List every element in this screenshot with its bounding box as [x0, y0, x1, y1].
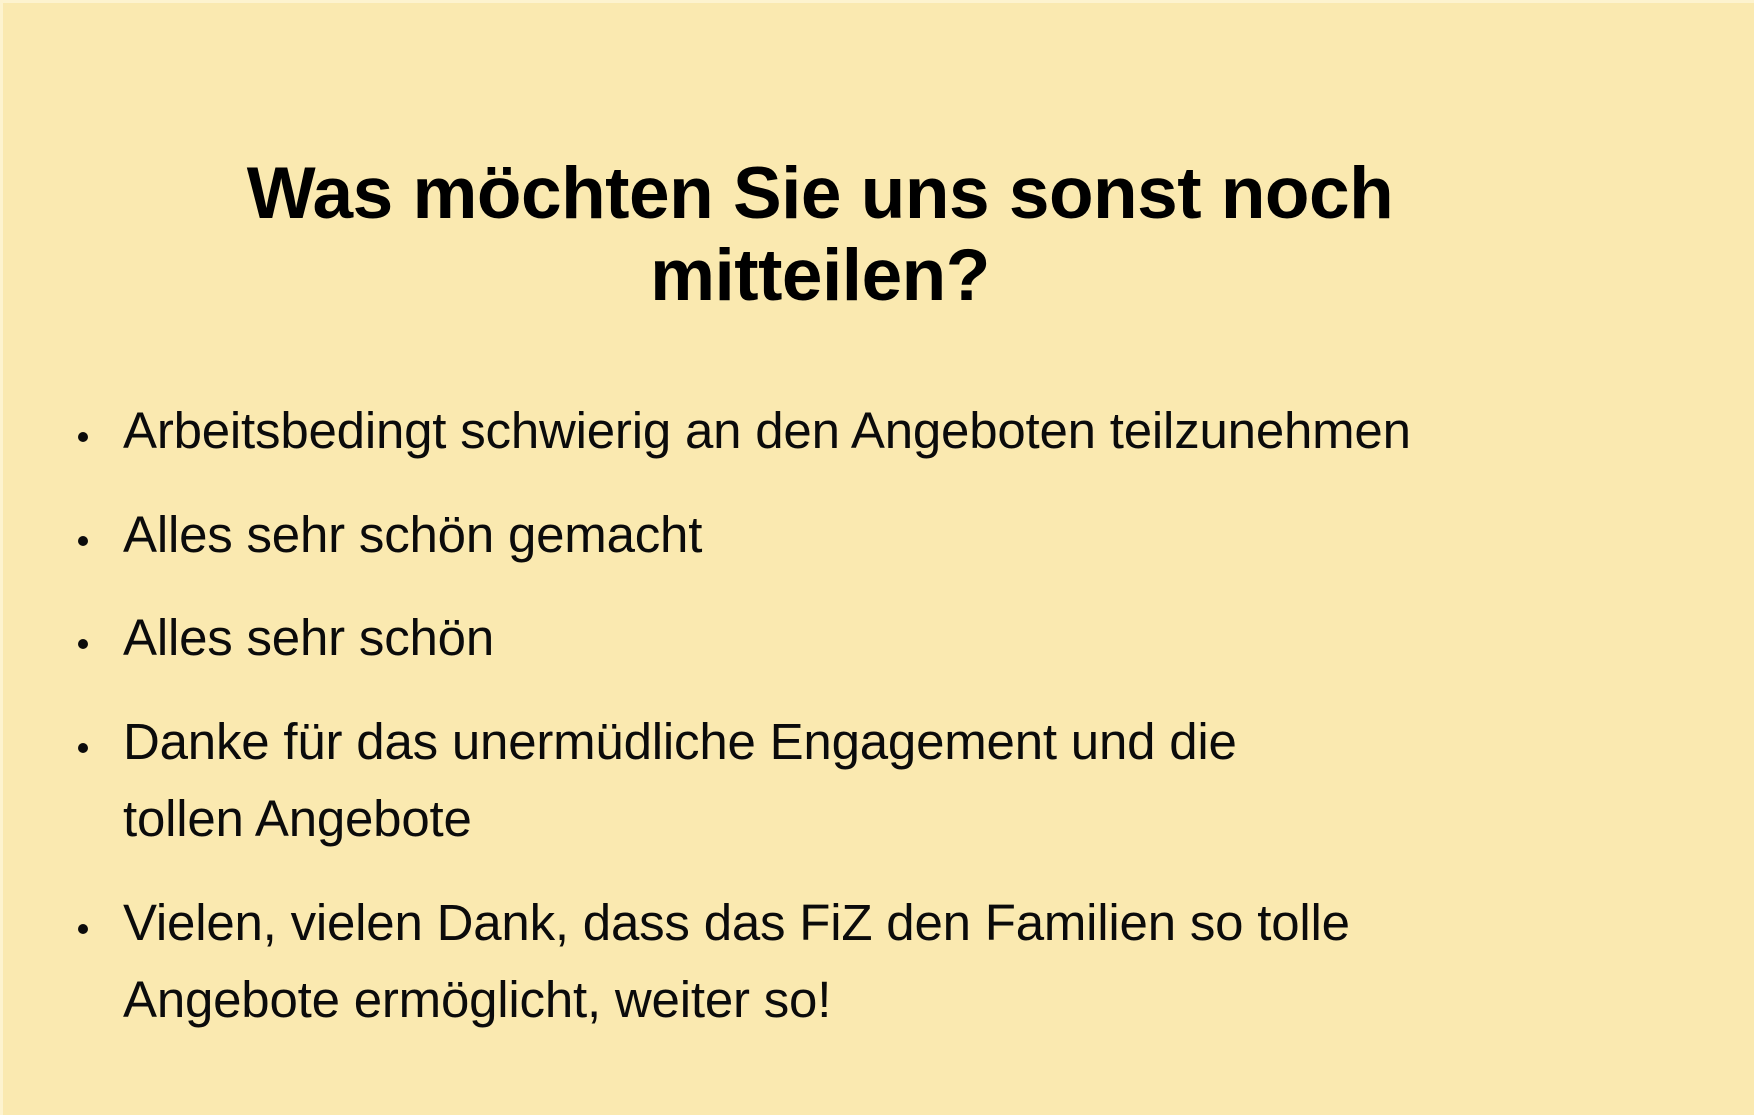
bullet-dot-icon	[78, 924, 88, 934]
list-item-label: Arbeitsbedingt schwierig an den Angebote…	[123, 392, 1523, 470]
bullet-dot-icon	[78, 536, 88, 546]
list-item: Danke für das unermüdliche Engagement un…	[72, 703, 1672, 858]
list-item-label: Alles sehr schön	[123, 599, 1523, 677]
list-item-label: Danke für das unermüdliche Engagement un…	[123, 703, 1348, 858]
presentation-slide: Was möchten Sie uns sonst noch mitteilen…	[0, 0, 1754, 1115]
list-item: Alles sehr schön gemacht	[72, 496, 1672, 574]
page-title: Was möchten Sie uns sonst noch mitteilen…	[120, 153, 1520, 317]
list-item-label: Vielen, vielen Dank, dass das FiZ den Fa…	[123, 884, 1463, 1039]
bullet-dot-icon	[78, 743, 88, 753]
list-item: Arbeitsbedingt schwierig an den Angebote…	[72, 392, 1672, 470]
bullet-dot-icon	[78, 432, 88, 442]
list-item-label: Alles sehr schön gemacht	[123, 496, 1523, 574]
list-item: Vielen, vielen Dank, dass das FiZ den Fa…	[72, 884, 1672, 1039]
list-item: Alles sehr schön	[72, 599, 1672, 677]
feedback-bullet-list: Arbeitsbedingt schwierig an den Angebote…	[72, 392, 1672, 1065]
bullet-dot-icon	[78, 639, 88, 649]
